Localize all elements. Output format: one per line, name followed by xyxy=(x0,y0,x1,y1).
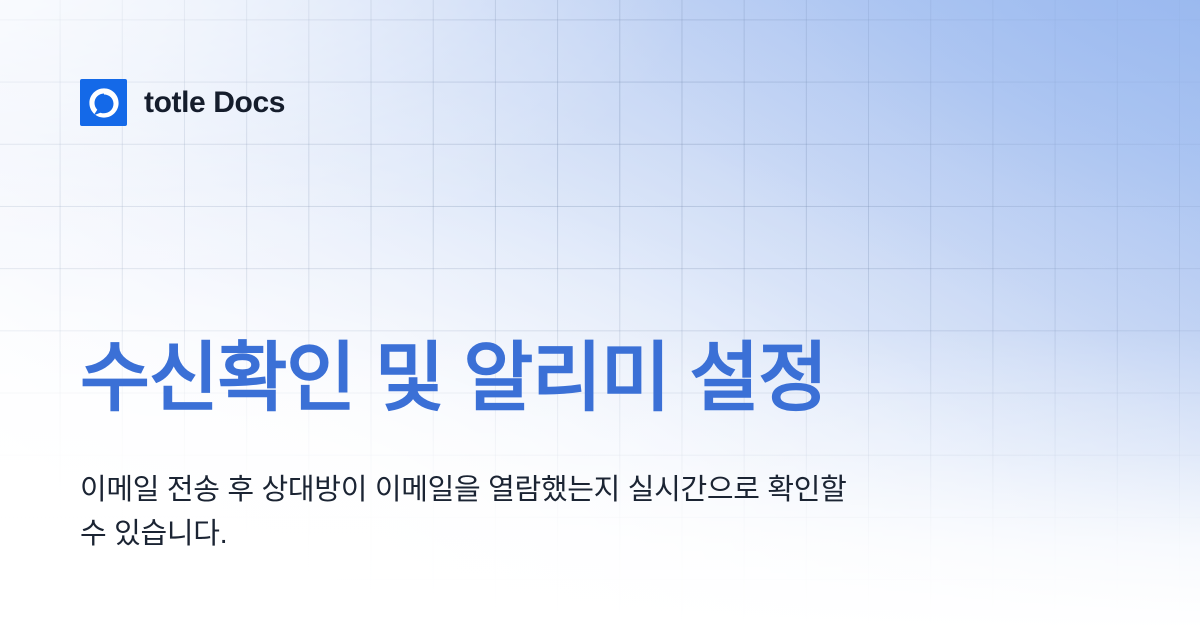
brand-lockup[interactable]: totle Docs xyxy=(80,79,285,126)
page-title: 수신확인 및 알리미 설정 xyxy=(80,334,827,424)
page-subtitle: 이메일 전송 후 상대방이 이메일을 열람했는지 실시간으로 확인할 수 있습니… xyxy=(80,468,870,556)
content-layer: totle Docs 수신확인 및 알리미 설정 이메일 전송 후 상대방이 이… xyxy=(0,0,1200,630)
totle-speech-bubble-icon xyxy=(80,79,127,126)
brand-name: totle Docs xyxy=(144,88,285,118)
og-card: totle Docs 수신확인 및 알리미 설정 이메일 전송 후 상대방이 이… xyxy=(0,0,1200,630)
